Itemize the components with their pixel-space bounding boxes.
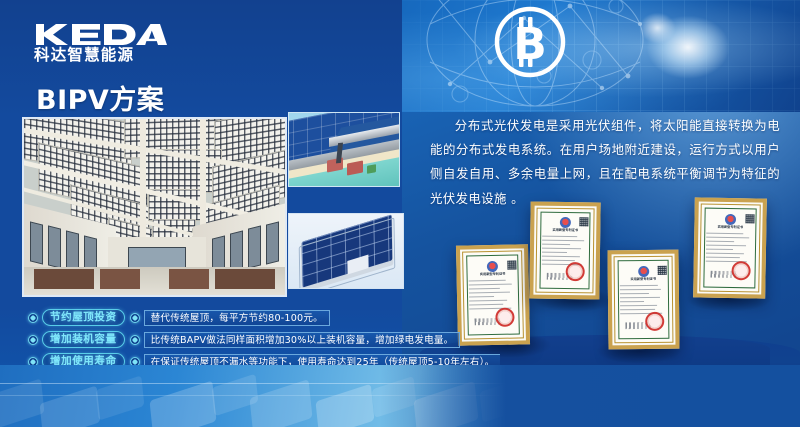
svg-text:B: B bbox=[513, 19, 547, 70]
feature-list: 节约屋顶投资 替代传统屋顶，每平方节约80-100元。 增加装机容量 比传统BA… bbox=[28, 307, 458, 373]
red-seal-icon bbox=[731, 261, 750, 280]
pv-module-array-render bbox=[288, 213, 404, 289]
feature-badge: 增加装机容量 bbox=[42, 331, 125, 348]
feature-text: 替代传统屋顶，每平方节约80-100元。 bbox=[144, 310, 330, 326]
feature-row: 增加装机容量 比传统BAPV做法同样面积增加30%以上装机容量，增加绿电发电量。 bbox=[28, 329, 458, 350]
certificate-title: 实用新型专利证书 bbox=[701, 223, 759, 229]
patent-certificate-3[interactable]: 实用新型专利证书 bbox=[607, 250, 679, 350]
bipv-poster: B 科达智慧能源 BIPV方案 bbox=[0, 0, 800, 427]
red-seal-icon bbox=[495, 307, 514, 326]
feature-text: 比传统BAPV做法同样面积增加30%以上装机容量，增加绿电发电量。 bbox=[144, 332, 461, 348]
qr-code-icon bbox=[579, 217, 588, 226]
red-seal-icon bbox=[645, 312, 664, 331]
pv-mounting-detail-render bbox=[288, 112, 400, 187]
qr-code-icon bbox=[745, 214, 754, 223]
patent-certificate-4[interactable]: 实用新型专利证书 bbox=[693, 197, 767, 298]
qr-code-icon bbox=[507, 260, 516, 269]
patent-certificate-1[interactable]: 实用新型专利证书 bbox=[456, 244, 530, 345]
feature-badge: 节约屋顶投资 bbox=[42, 309, 125, 326]
brand-name-cn: 科达智慧能源 bbox=[34, 48, 174, 64]
certificate-title: 实用新型专利证书 bbox=[537, 227, 593, 233]
patent-certificate-2[interactable]: 实用新型专利证书 bbox=[529, 202, 600, 300]
qr-code-icon bbox=[658, 265, 667, 274]
description-paragraph: 分布式光伏发电是采用光伏组件，将太阳能直接转换为电能的分布式发电系统。在用户场地… bbox=[430, 114, 780, 211]
certificate-title: 实用新型专利证书 bbox=[615, 275, 672, 281]
brand-logo: 科达智慧能源 bbox=[34, 22, 174, 64]
page-title: BIPV方案 bbox=[36, 78, 164, 117]
bullet-ring-icon bbox=[28, 313, 38, 323]
bullet-ring-icon bbox=[28, 335, 38, 345]
bullet-ring-icon bbox=[130, 335, 140, 345]
hand-touch-icon bbox=[620, 0, 790, 112]
bitcoin-icon: B bbox=[492, 4, 568, 80]
bullet-ring-icon bbox=[130, 313, 140, 323]
bottom-decorative-band bbox=[0, 365, 800, 427]
feature-row: 节约屋顶投资 替代传统屋顶，每平方节约80-100元。 bbox=[28, 307, 458, 328]
keda-wordmark-logo bbox=[34, 22, 167, 47]
atrium-skylight-photo bbox=[22, 117, 287, 297]
